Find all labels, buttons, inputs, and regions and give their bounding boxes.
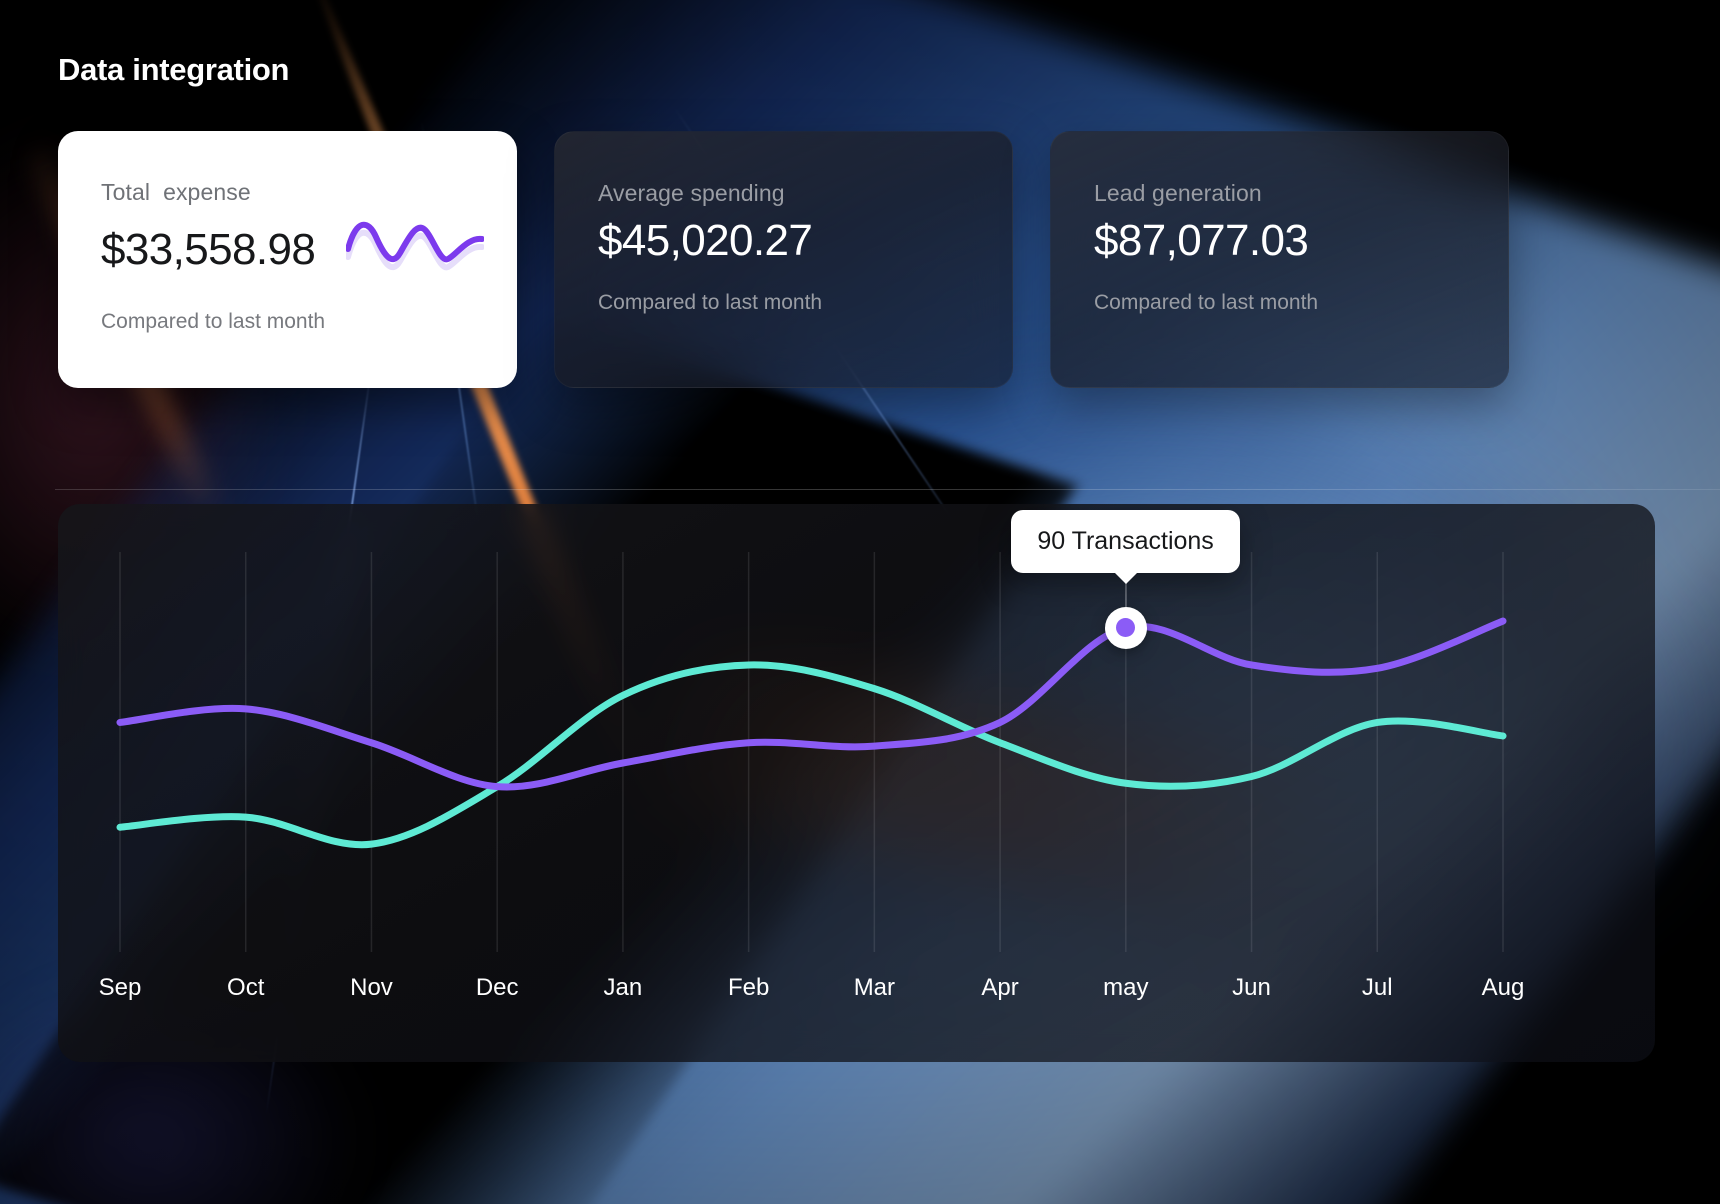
x-axis-label-feb: Feb [728, 974, 769, 1002]
marker-dot-icon [1116, 618, 1135, 637]
metric-card-average-spending[interactable]: Average spending $45,020.27 Compared to … [554, 131, 1013, 388]
tooltip-label: 90 Transactions [1037, 527, 1214, 556]
sparkline-wave-icon [346, 217, 484, 283]
x-axis-label-sep: Sep [99, 974, 142, 1002]
metric-card-value: $33,558.98 [101, 227, 315, 273]
tooltip-arrow-icon [1114, 572, 1138, 584]
page-title: Data integration [58, 52, 289, 88]
x-axis-label-jun: Jun [1232, 974, 1271, 1002]
section-divider [55, 489, 1720, 490]
x-axis-label-may: may [1103, 974, 1148, 1002]
metric-card-label: Total expense [101, 179, 517, 206]
metric-card-label: Lead generation [1094, 180, 1508, 207]
metric-card-value-row: $33,558.98 [101, 217, 517, 283]
metric-card-value-row: $87,077.03 [1094, 218, 1508, 264]
x-axis-label-oct: Oct [227, 974, 264, 1002]
metric-card-row: Total expense $33,558.98 Compared to las… [58, 131, 1510, 388]
transactions-chart-panel: 90 Transactions SepOctNovDecJanFebMarApr… [58, 504, 1655, 1062]
metric-card-value-row: $45,020.27 [598, 218, 1012, 264]
chart-tooltip[interactable]: 90 Transactions [1011, 510, 1240, 573]
metric-card-value: $87,077.03 [1094, 218, 1308, 264]
x-axis-label-nov: Nov [350, 974, 393, 1002]
metric-card-subtitle: Compared to last month [1094, 291, 1508, 315]
chart-plot-area: 90 Transactions SepOctNovDecJanFebMarApr… [58, 504, 1655, 1062]
chart-line-purple [120, 665, 1503, 845]
x-axis-label-apr: Apr [981, 974, 1018, 1002]
x-axis-label-jul: Jul [1362, 974, 1393, 1002]
dashboard-root: Data integration Total expense $33,558.9… [0, 0, 1720, 1204]
x-axis-label-dec: Dec [476, 974, 519, 1002]
x-axis-label-aug: Aug [1482, 974, 1525, 1002]
metric-card-lead-generation[interactable]: Lead generation $87,077.03 Compared to l… [1050, 131, 1509, 388]
metric-card-value: $45,020.27 [598, 218, 812, 264]
x-axis-label-mar: Mar [854, 974, 895, 1002]
x-axis-label-jan: Jan [604, 974, 643, 1002]
metric-card-subtitle: Compared to last month [101, 310, 517, 334]
chart-gridlines [120, 552, 1503, 952]
metric-card-subtitle: Compared to last month [598, 291, 1012, 315]
chart-data-point-marker[interactable] [1105, 607, 1147, 649]
metric-card-label: Average spending [598, 180, 1012, 207]
chart-x-axis-labels: SepOctNovDecJanFebMarAprmayJunJulAug [58, 974, 1655, 1014]
metric-card-total-expense[interactable]: Total expense $33,558.98 Compared to las… [58, 131, 517, 388]
